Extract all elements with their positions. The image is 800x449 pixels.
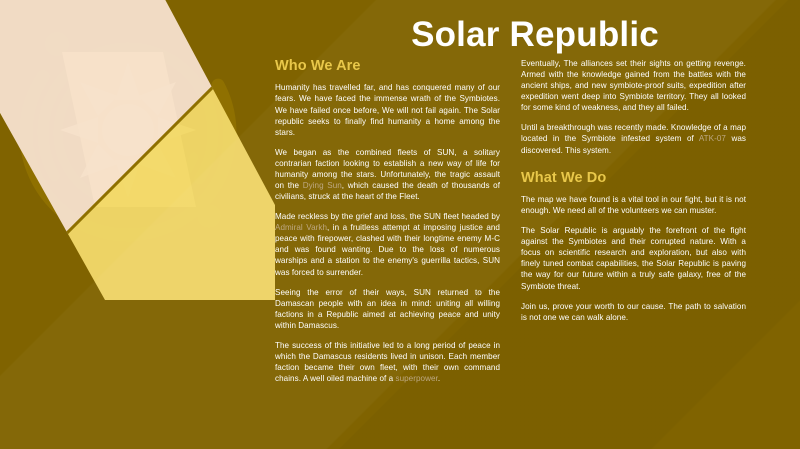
what-we-do-body: The map we have found is a vital tool in…	[521, 194, 746, 323]
heading-what-we-do: What We Do	[521, 170, 746, 187]
who-we-are-p3: Made reckless by the grief and loss, the…	[275, 211, 500, 277]
right-p2: Until a breakthrough was recently made. …	[521, 122, 746, 155]
what-we-do-p1: The map we have found is a vital tool in…	[521, 194, 746, 216]
inline-link[interactable]: Admiral Varkh	[275, 223, 327, 232]
heading-who-we-are: Who We Are	[275, 58, 500, 75]
inline-link[interactable]: Dying Sun	[303, 181, 342, 190]
who-we-are-p4: Seeing the error of their ways, SUN retu…	[275, 287, 500, 331]
what-we-do-p2: The Solar Republic is arguably the foref…	[521, 225, 746, 291]
who-we-are-p2: We began as the combined fleets of SUN, …	[275, 147, 500, 202]
solar-republic-page: Solar Republic Who We Are Humanity has t…	[0, 0, 800, 449]
page-title: Solar Republic	[411, 17, 659, 52]
emblem-diagonal-band	[0, 0, 290, 300]
who-we-are-p5: The success of this initiative led to a …	[275, 340, 500, 384]
content-columns: Who We Are Humanity has travelled far, a…	[275, 58, 787, 443]
who-we-are-p1: Humanity has travelled far, and has conq…	[275, 82, 500, 137]
inline-link[interactable]: superpower	[395, 374, 437, 383]
page-header: Solar Republic	[275, 8, 795, 60]
right-p1: Eventually, The alliances set their sigh…	[521, 58, 746, 113]
solar-republic-sun-emblem	[0, 0, 290, 300]
what-we-do-p3: Join us, prove your worth to our cause. …	[521, 301, 746, 323]
right-intro-body: Eventually, The alliances set their sigh…	[521, 58, 746, 156]
left-column: Who We Are Humanity has travelled far, a…	[275, 58, 500, 443]
right-column: Eventually, The alliances set their sigh…	[521, 58, 746, 443]
who-we-are-body: Humanity has travelled far, and has conq…	[275, 82, 500, 384]
inline-link[interactable]: ATK-07	[699, 134, 726, 143]
